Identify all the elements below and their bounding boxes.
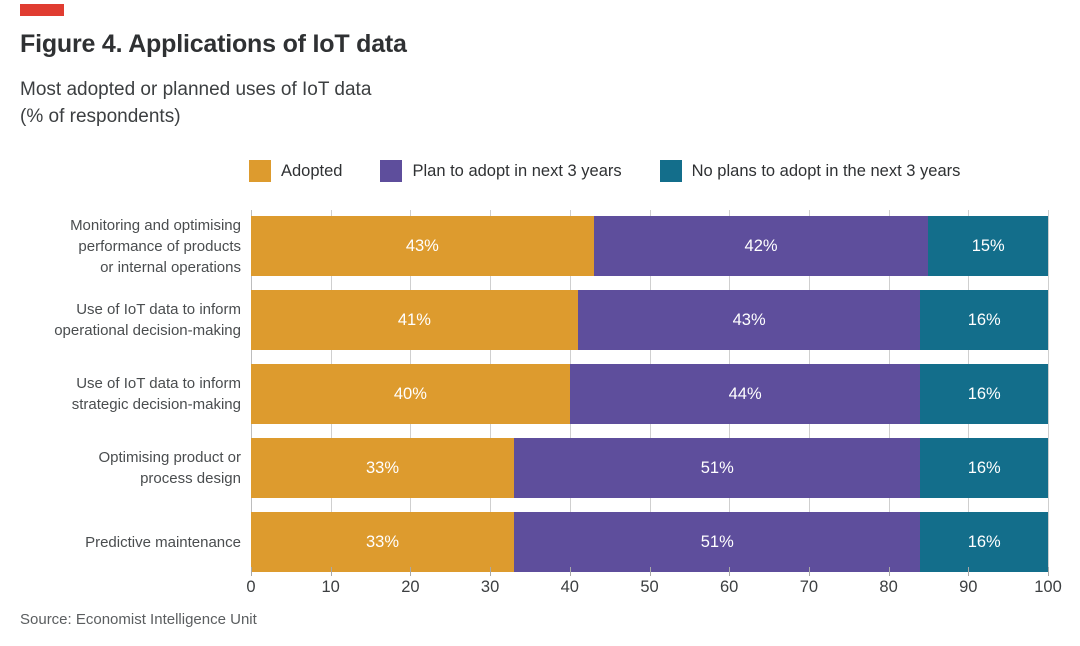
bar-segment: 15% — [928, 216, 1048, 276]
bar-segment: 33% — [251, 438, 514, 498]
axis-tick-label: 40 — [561, 578, 579, 597]
bar-segment: 43% — [251, 216, 594, 276]
category-label: Monitoring and optimising performance of… — [0, 215, 241, 278]
axis-tick — [809, 567, 810, 576]
axis-tick-label: 90 — [959, 578, 977, 597]
bar-value-label: 40% — [394, 385, 427, 404]
bar-segment: 16% — [920, 512, 1048, 572]
axis-tick — [570, 567, 571, 576]
bar-value-label: 33% — [366, 533, 399, 552]
legend-item[interactable]: Adopted — [249, 160, 342, 182]
bar-row: 43%42%15% — [251, 216, 1048, 276]
bar-value-label: 43% — [733, 311, 766, 330]
bar-value-label: 33% — [366, 459, 399, 478]
bar-value-label: 41% — [398, 311, 431, 330]
source-note: Source: Economist Intelligence Unit — [20, 611, 257, 628]
category-label: Optimising product or process design — [0, 447, 241, 489]
bar-segment: 43% — [578, 290, 921, 350]
bar-value-label: 51% — [701, 459, 734, 478]
axis-tick-label: 30 — [481, 578, 499, 597]
axis-tick-label: 80 — [879, 578, 897, 597]
bar-value-label: 42% — [745, 237, 778, 256]
bar-segment: 16% — [920, 364, 1048, 424]
legend-item[interactable]: Plan to adopt in next 3 years — [380, 160, 621, 182]
bar-value-label: 16% — [968, 385, 1001, 404]
bar-segment: 41% — [251, 290, 578, 350]
plot-area: 43%42%15%41%43%16%40%44%16%33%51%16%33%5… — [251, 210, 1048, 567]
bar-segment: 42% — [594, 216, 929, 276]
bar-segment: 51% — [514, 512, 920, 572]
legend-swatch-icon — [249, 160, 271, 182]
bar-row: 33%51%16% — [251, 512, 1048, 572]
chart-area: Monitoring and optimising performance of… — [0, 206, 1080, 586]
chart-subtitle: Most adopted or planned uses of IoT data… — [20, 76, 371, 130]
legend-label: Adopted — [281, 162, 342, 181]
category-label: Use of IoT data to inform operational de… — [0, 299, 241, 341]
legend-swatch-icon — [380, 160, 402, 182]
axis-tick-label: 0 — [246, 578, 255, 597]
axis-tick-label: 50 — [640, 578, 658, 597]
bar-row: 41%43%16% — [251, 290, 1048, 350]
category-axis-labels: Monitoring and optimising performance of… — [0, 210, 241, 567]
bar-segment: 16% — [920, 438, 1048, 498]
category-label: Predictive maintenance — [0, 532, 241, 553]
bar-value-label: 15% — [972, 237, 1005, 256]
bar-segment: 40% — [251, 364, 570, 424]
gridline — [1048, 210, 1049, 567]
bar-row: 33%51%16% — [251, 438, 1048, 498]
bar-row: 40%44%16% — [251, 364, 1048, 424]
axis-tick-label: 60 — [720, 578, 738, 597]
legend-item[interactable]: No plans to adopt in the next 3 years — [660, 160, 961, 182]
bar-segment: 51% — [514, 438, 920, 498]
axis-tick — [490, 567, 491, 576]
bar-rows: 43%42%15%41%43%16%40%44%16%33%51%16%33%5… — [251, 210, 1048, 567]
axis-tick — [410, 567, 411, 576]
legend-label: Plan to adopt in next 3 years — [412, 162, 621, 181]
bar-value-label: 16% — [968, 533, 1001, 552]
bar-value-label: 43% — [406, 237, 439, 256]
category-label: Use of IoT data to inform strategic deci… — [0, 373, 241, 415]
axis-tick-label: 20 — [401, 578, 419, 597]
axis-tick — [729, 567, 730, 576]
x-axis: 0102030405060708090100 — [251, 567, 1048, 597]
bar-value-label: 51% — [701, 533, 734, 552]
axis-tick-label: 10 — [322, 578, 340, 597]
page-title: Figure 4. Applications of IoT data — [20, 30, 407, 59]
chart-legend: AdoptedPlan to adopt in next 3 yearsNo p… — [249, 160, 960, 182]
axis-tick — [1048, 567, 1049, 576]
legend-label: No plans to adopt in the next 3 years — [692, 162, 961, 181]
bar-segment: 33% — [251, 512, 514, 572]
axis-tick-label: 100 — [1034, 578, 1062, 597]
bar-value-label: 16% — [968, 311, 1001, 330]
axis-tick — [331, 567, 332, 576]
legend-swatch-icon — [660, 160, 682, 182]
axis-tick — [251, 567, 252, 576]
bar-value-label: 44% — [729, 385, 762, 404]
accent-bar — [20, 4, 64, 16]
axis-tick — [650, 567, 651, 576]
axis-tick — [968, 567, 969, 576]
bar-segment: 16% — [920, 290, 1048, 350]
axis-tick — [889, 567, 890, 576]
bar-value-label: 16% — [968, 459, 1001, 478]
axis-tick-label: 70 — [800, 578, 818, 597]
bar-segment: 44% — [570, 364, 921, 424]
